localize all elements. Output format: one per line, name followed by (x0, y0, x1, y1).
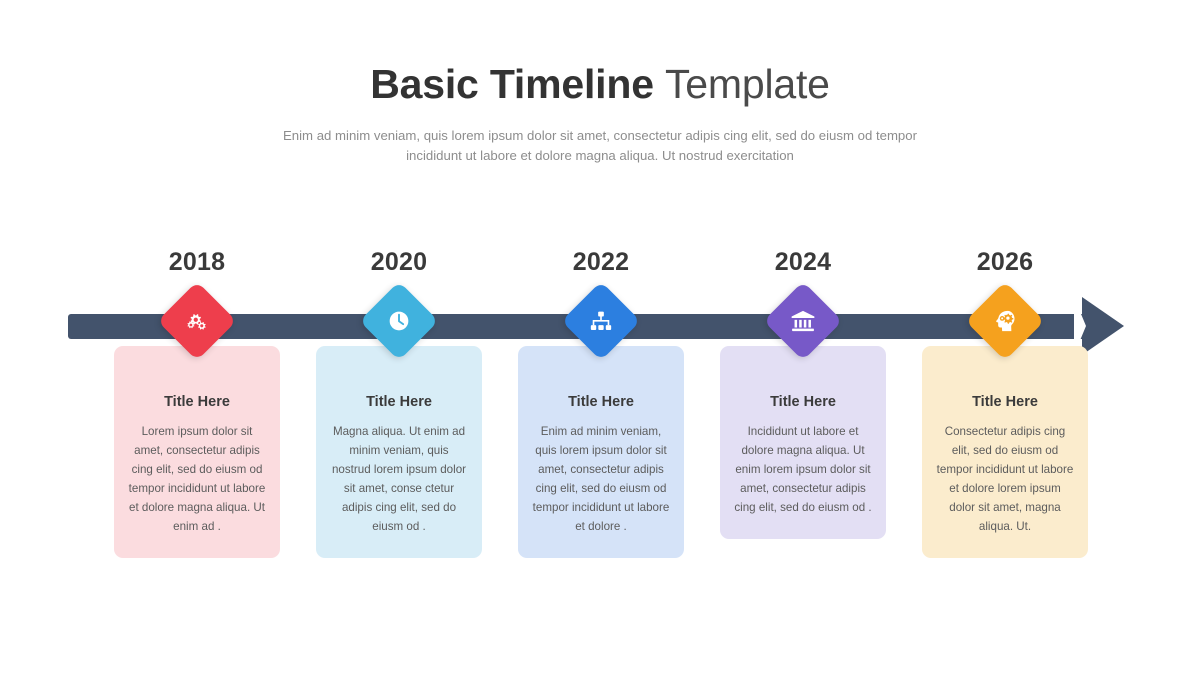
timeline-item-2026[interactable]: 2026 Title Here Consectetur adipis cing … (922, 246, 1088, 278)
milestone-year: 2020 (316, 246, 482, 278)
milestone-body: Consectetur adipis cing elit, sed do eiu… (935, 422, 1075, 536)
milestone-year: 2022 (518, 246, 684, 278)
milestone-marker[interactable] (970, 286, 1040, 356)
milestone-body: Incididunt ut labore et dolore magna ali… (733, 422, 873, 517)
milestone-marker[interactable] (162, 286, 232, 356)
milestone-marker[interactable] (768, 286, 838, 356)
org-chart-icon (566, 286, 636, 356)
milestone-card: Title Here Consectetur adipis cing elit,… (922, 346, 1088, 558)
clock-icon (364, 286, 434, 356)
milestone-title: Title Here (329, 394, 469, 410)
header: Basic Timeline Template Enim ad minim ve… (0, 58, 1200, 166)
milestone-card: Title Here Lorem ipsum dolor sit amet, c… (114, 346, 280, 558)
milestone-body: Lorem ipsum dolor sit amet, consectetur … (127, 422, 267, 536)
milestone-body: Enim ad minim veniam, quis lorem ipsum d… (531, 422, 671, 536)
page-title-light: Template (665, 61, 830, 107)
milestone-marker[interactable] (364, 286, 434, 356)
page-title: Basic Timeline Template (0, 58, 1200, 110)
timeline-item-2020[interactable]: 2020 Title Here Magna aliqua. Ut enim ad… (316, 246, 482, 278)
page-title-bold: Basic Timeline (370, 61, 665, 107)
timeline-item-2022[interactable]: 2022 Title Here Enim ad minim veniam, qu… (518, 246, 684, 278)
timeline-arrow-icon (1082, 297, 1124, 355)
head-gears-icon (970, 286, 1040, 356)
milestone-title: Title Here (531, 394, 671, 410)
milestone-year: 2018 (114, 246, 280, 278)
page-subtitle: Enim ad minim veniam, quis lorem ipsum d… (255, 126, 945, 166)
milestone-body: Magna aliqua. Ut enim ad minim veniam, q… (329, 422, 469, 536)
bank-icon (768, 286, 838, 356)
milestone-card: Title Here Magna aliqua. Ut enim ad mini… (316, 346, 482, 558)
gears-icon (162, 286, 232, 356)
timeline-item-2018[interactable]: 2018 Title Here Lorem ipsum dolor sit am… (114, 246, 280, 278)
milestone-title: Title Here (935, 394, 1075, 410)
milestone-title: Title Here (127, 394, 267, 410)
milestone-card: Title Here Incididunt ut labore et dolor… (720, 346, 886, 539)
milestone-card: Title Here Enim ad minim veniam, quis lo… (518, 346, 684, 558)
milestone-marker[interactable] (566, 286, 636, 356)
milestone-year: 2026 (922, 246, 1088, 278)
timeline-item-2024[interactable]: 2024 Title Here Incididunt ut labore et … (720, 246, 886, 278)
milestone-title: Title Here (733, 394, 873, 410)
slide-canvas: Basic Timeline Template Enim ad minim ve… (0, 0, 1200, 675)
milestone-year: 2024 (720, 246, 886, 278)
